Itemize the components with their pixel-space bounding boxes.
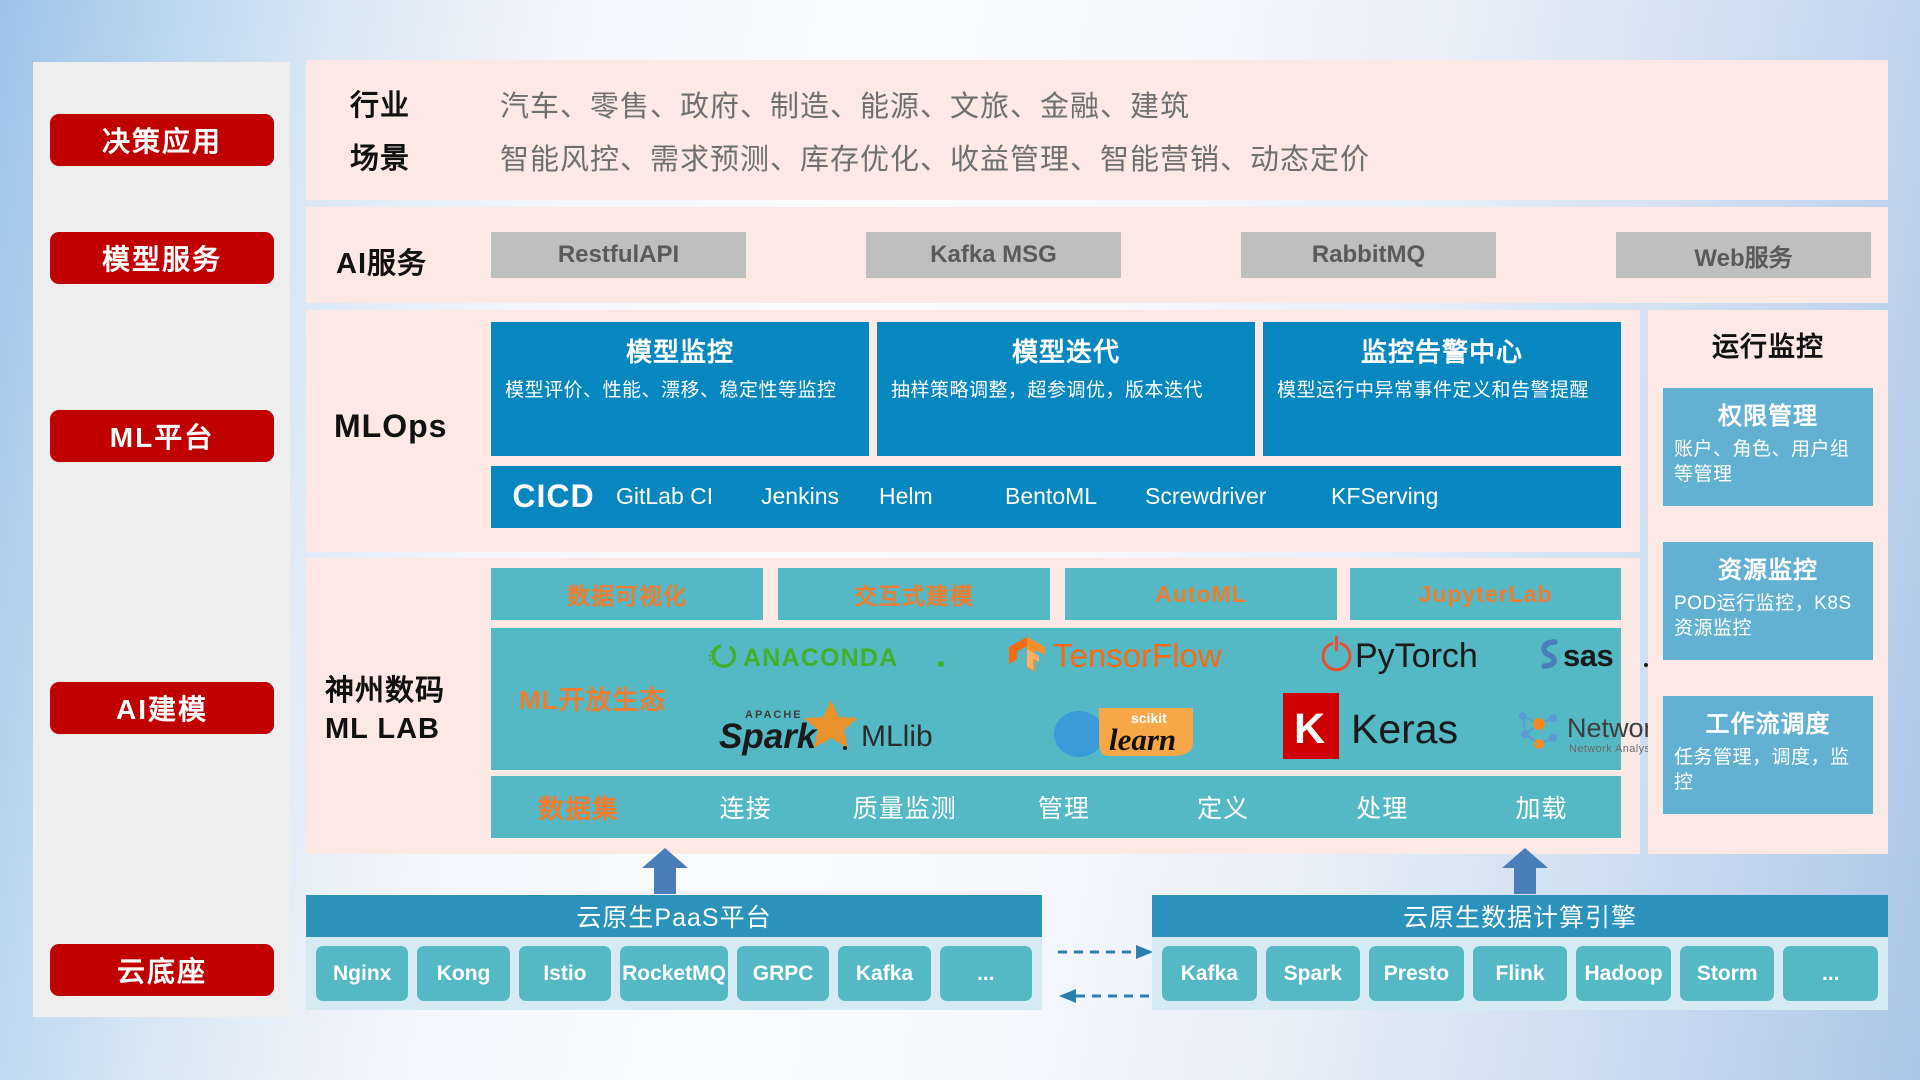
monitor-card-permission-management[interactable]: 权限管理 账户、角色、用户组等管理 xyxy=(1663,388,1873,506)
layer-label-sidebar: 决策应用 模型服务 ML平台 AI建模 云底座 xyxy=(33,62,290,1017)
tool-box-label: AutoML xyxy=(1155,581,1247,608)
scikit-learn-logo: scikit learn xyxy=(1047,698,1247,767)
card-title: 资源监控 xyxy=(1674,550,1862,585)
tool-box-label: 交互式建模 xyxy=(854,577,974,611)
service-box-kafka-msg[interactable]: Kafka MSG xyxy=(866,232,1121,278)
service-box-label: RestfulAPI xyxy=(558,241,679,269)
service-box-rabbitmq[interactable]: RabbitMQ xyxy=(1241,232,1496,278)
industry-value: 汽车、零售、政府、制造、能源、文旅、金融、建筑 xyxy=(500,83,1190,125)
chip-more[interactable]: ... xyxy=(940,946,1032,1001)
card-description: 抽样策略调整，超参调优，版本迭代 xyxy=(891,378,1241,403)
tool-box-automl[interactable]: AutoML xyxy=(1065,568,1337,620)
tool-box-interactive-modeling[interactable]: 交互式建模 xyxy=(778,568,1050,620)
dataset-item-loading[interactable]: 加载 xyxy=(1462,789,1621,825)
card-description: POD运行监控，K8S资源监控 xyxy=(1674,591,1862,642)
service-box-label: RabbitMQ xyxy=(1312,241,1425,269)
scenario-label: 场景 xyxy=(350,135,410,177)
chip-presto[interactable]: Presto xyxy=(1369,946,1464,1001)
ai-service-label: AI服务 xyxy=(336,240,427,282)
ml-lab-label-line2: ML LAB xyxy=(325,710,445,748)
card-description: 模型评价、性能、漂移、稳定性等监控 xyxy=(505,378,855,403)
service-box-label: Kafka MSG xyxy=(930,241,1057,269)
svg-text:Keras: Keras xyxy=(1351,706,1458,752)
scenario-value: 智能风控、需求预测、库存优化、收益管理、智能营销、动态定价 xyxy=(500,136,1370,178)
card-title: 模型监控 xyxy=(505,332,855,369)
runtime-monitor-title: 运行监控 xyxy=(1648,325,1888,364)
card-description: 账户、角色、用户组等管理 xyxy=(1674,437,1862,488)
application-layer-panel xyxy=(306,60,1888,200)
sidebar-item-label: 云底座 xyxy=(117,950,207,990)
dataset-title: 数据集 xyxy=(491,789,666,826)
spark-mllib-logo: APACHE Spark MLlib xyxy=(709,698,979,765)
tool-box-label: JupyterLab xyxy=(1419,581,1553,608)
sidebar-item-label: AI建模 xyxy=(116,688,208,728)
cicd-item-bentoml[interactable]: BentoML xyxy=(1005,466,1145,511)
tool-box-jupyterlab[interactable]: JupyterLab xyxy=(1350,568,1621,620)
ml-ecosystem-title: ML开放生态 xyxy=(519,680,667,717)
cicd-item-kfserving[interactable]: KFServing xyxy=(1331,466,1481,511)
dataset-item-connect[interactable]: 连接 xyxy=(666,789,825,825)
mlops-card-model-monitoring[interactable]: 模型监控 模型评价、性能、漂移、稳定性等监控 xyxy=(491,322,869,456)
dataset-item-definition[interactable]: 定义 xyxy=(1144,789,1303,825)
tool-box-data-visualization[interactable]: 数据可视化 xyxy=(491,568,763,620)
cicd-item-jenkins[interactable]: Jenkins xyxy=(761,466,879,511)
svg-text:learn: learn xyxy=(1109,722,1176,757)
card-title: 工作流调度 xyxy=(1674,704,1862,739)
chip-more[interactable]: ... xyxy=(1783,946,1878,1001)
cloud-native-data-engine-group: 云原生数据计算引擎 Kafka Spark Presto Flink Hadoo… xyxy=(1152,895,1888,1010)
service-box-label: Web服务 xyxy=(1694,238,1792,273)
chip-hadoop[interactable]: Hadoop xyxy=(1576,946,1671,1001)
ml-ecosystem-band: ML开放生态 ANACONDA xyxy=(491,628,1621,770)
sidebar-item-label: ML平台 xyxy=(110,416,214,456)
dataset-item-quality-monitoring[interactable]: 质量监测 xyxy=(825,789,984,825)
dashed-arrow-left-icon xyxy=(1058,988,1154,1009)
chip-kafka[interactable]: Kafka xyxy=(838,946,930,1001)
tool-box-label: 数据可视化 xyxy=(567,577,687,611)
chip-istio[interactable]: Istio xyxy=(519,946,611,1001)
chip-kong[interactable]: Kong xyxy=(417,946,509,1001)
sidebar-item-label: 模型服务 xyxy=(102,238,222,278)
card-title: 权限管理 xyxy=(1674,396,1862,431)
svg-text:sas: sas xyxy=(1563,638,1613,673)
monitor-card-resource-monitoring[interactable]: 资源监控 POD运行监控，K8S资源监控 xyxy=(1663,542,1873,660)
card-title: 模型迭代 xyxy=(891,332,1241,369)
chip-kafka[interactable]: Kafka xyxy=(1162,946,1257,1001)
sidebar-item-decision-app[interactable]: 决策应用 xyxy=(50,114,274,166)
chip-spark[interactable]: Spark xyxy=(1266,946,1361,1001)
card-description: 任务管理，调度，监控 xyxy=(1674,745,1862,796)
ml-lab-label-line1: 神州数码 xyxy=(325,672,445,710)
service-box-web-service[interactable]: Web服务 xyxy=(1616,232,1871,278)
svg-text:K: K xyxy=(1294,705,1325,753)
chip-flink[interactable]: Flink xyxy=(1473,946,1568,1001)
cloud-native-paas-group: 云原生PaaS平台 Nginx Kong Istio RocketMQ GRPC… xyxy=(306,895,1042,1010)
chip-nginx[interactable]: Nginx xyxy=(316,946,408,1001)
sidebar-item-ai-modeling[interactable]: AI建模 xyxy=(50,682,274,734)
diagram-canvas: 决策应用 模型服务 ML平台 AI建模 云底座 行业 汽车、零售、政府、制造、能… xyxy=(0,0,1920,1080)
cloud-paas-chip-row: Nginx Kong Istio RocketMQ GRPC Kafka ... xyxy=(306,937,1042,1010)
chip-rocketmq[interactable]: RocketMQ xyxy=(620,946,728,1001)
cicd-item-screwdriver[interactable]: Screwdriver xyxy=(1145,466,1331,511)
sidebar-item-model-service[interactable]: 模型服务 xyxy=(50,232,274,284)
svg-text:PyTorch: PyTorch xyxy=(1355,637,1478,675)
sidebar-item-label: 决策应用 xyxy=(102,120,222,160)
mlops-card-model-iteration[interactable]: 模型迭代 抽样策略调整，超参调优，版本迭代 xyxy=(877,322,1255,456)
card-title: 监控告警中心 xyxy=(1277,332,1607,369)
mlops-card-alert-center[interactable]: 监控告警中心 模型运行中异常事件定义和告警提醒 xyxy=(1263,322,1621,456)
dataset-item-processing[interactable]: 处理 xyxy=(1303,789,1462,825)
cloud-data-engine-header: 云原生数据计算引擎 xyxy=(1152,895,1888,937)
chip-storm[interactable]: Storm xyxy=(1680,946,1775,1001)
industry-label: 行业 xyxy=(350,82,410,124)
sidebar-item-cloud-foundation[interactable]: 云底座 xyxy=(50,944,274,996)
cicd-item-gitlab-ci[interactable]: GitLab CI xyxy=(616,466,761,511)
ml-lab-label: 神州数码 ML LAB xyxy=(325,672,445,749)
cloud-data-engine-chip-row: Kafka Spark Presto Flink Hadoop Storm ..… xyxy=(1152,937,1888,1010)
cicd-item-helm[interactable]: Helm xyxy=(879,466,1005,511)
service-box-restfulapi[interactable]: RestfulAPI xyxy=(491,232,746,278)
dashed-arrow-right-icon xyxy=(1058,944,1154,965)
keras-logo: K Keras xyxy=(1281,691,1511,766)
up-arrow-icon-data-engine xyxy=(1500,848,1550,894)
svg-text:MLlib: MLlib xyxy=(861,720,933,753)
cicd-toolchain-bar: CICD GitLab CI Jenkins Helm BentoML Scre… xyxy=(491,466,1621,528)
cicd-title: CICD xyxy=(491,466,616,526)
anaconda-logo: ANACONDA xyxy=(701,640,949,679)
svg-text:ANACONDA: ANACONDA xyxy=(743,644,898,672)
card-description: 模型运行中异常事件定义和告警提醒 xyxy=(1277,378,1607,403)
sidebar-item-ml-platform[interactable]: ML平台 xyxy=(50,410,274,462)
svg-text:TensorFlow: TensorFlow xyxy=(1053,637,1222,674)
pytorch-logo: PyTorch xyxy=(1311,634,1526,681)
chip-grpc[interactable]: GRPC xyxy=(737,946,829,1001)
dataset-item-management[interactable]: 管理 xyxy=(984,789,1143,825)
up-arrow-icon-paas xyxy=(640,848,690,894)
dataset-band: 数据集 连接 质量监测 管理 定义 处理 加载 xyxy=(491,776,1621,838)
monitor-card-workflow-scheduling[interactable]: 工作流调度 任务管理，调度，监控 xyxy=(1663,696,1873,814)
mlops-label: MLOps xyxy=(334,408,447,445)
cloud-paas-header: 云原生PaaS平台 xyxy=(306,895,1042,937)
tensorflow-logo: TensorFlow xyxy=(1001,634,1271,681)
svg-text:Spark: Spark xyxy=(719,717,818,756)
